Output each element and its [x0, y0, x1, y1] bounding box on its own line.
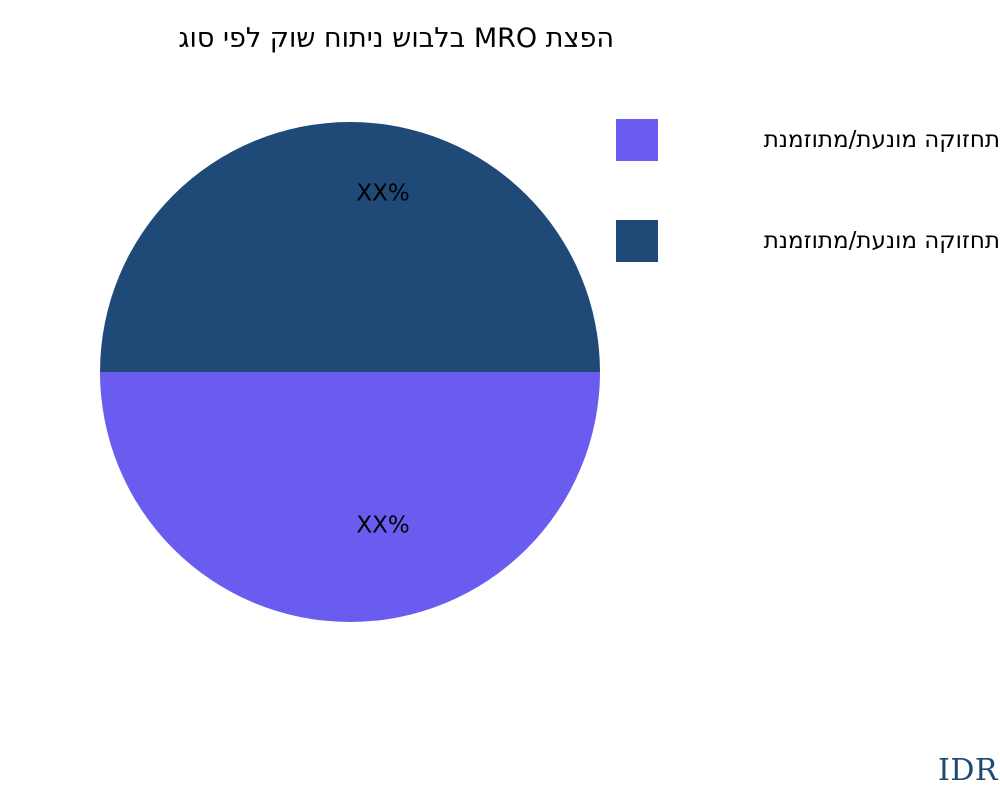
legend-item[interactable]: תחזוקה מונעת/מתוזמנת — [616, 220, 1000, 262]
legend-item[interactable]: תחזוקה מונעת/מתוזמנת — [616, 119, 1000, 161]
footer-source-mark: IDR — [938, 756, 998, 786]
chart-legend: תחזוקה מונעת/מתוזמנת תחזוקה מונעת/מתוזמנ… — [616, 119, 1000, 262]
pie-slice-label-bottom: XX% — [356, 515, 409, 538]
pie-slice-label-top: XX% — [356, 183, 409, 206]
pie-slice-bottom[interactable] — [100, 372, 600, 622]
legend-swatch-purple — [616, 119, 658, 161]
chart-title: הפצת MRO בלבוש ניתוח שוק לפי סוג — [0, 22, 614, 56]
pie-slice-top[interactable] — [100, 122, 600, 372]
legend-swatch-darkblue — [616, 220, 658, 262]
legend-item-label: תחזוקה מונעת/מתוזמנת — [675, 220, 1000, 262]
chart-canvas: הפצת MRO בלבוש ניתוח שוק לפי סוג XX% XX%… — [0, 0, 1000, 800]
legend-item-label: תחזוקה מונעת/מתוזמנת — [675, 119, 1000, 161]
pie-chart-svg — [100, 122, 600, 622]
pie-chart: XX% XX% — [100, 122, 600, 622]
